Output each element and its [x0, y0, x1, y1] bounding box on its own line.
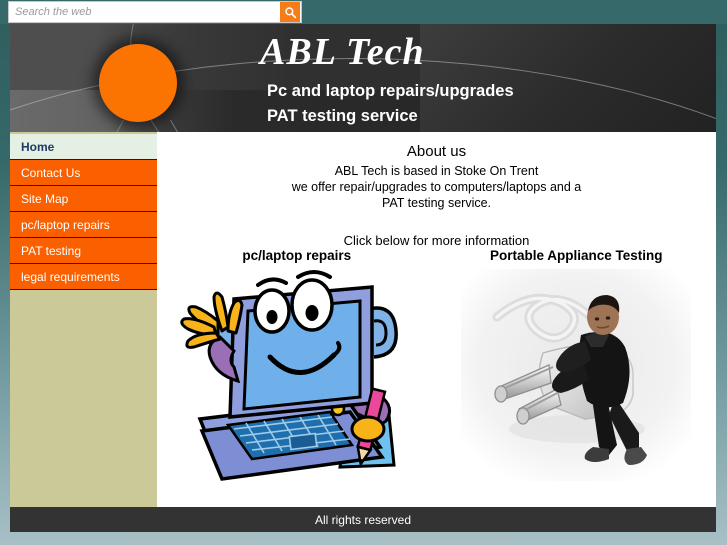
card-title-pc-laptop-repairs: pc/laptop repairs [157, 248, 437, 263]
main-content: About us ABL Tech is based in Stoke On T… [157, 132, 716, 507]
footer-text: All rights reserved [315, 513, 411, 527]
cartoon-laptop-character-image[interactable] [157, 269, 437, 484]
sidebar-item-contact-us[interactable]: Contact Us [10, 160, 157, 186]
sidebar-item-pat-testing[interactable]: PAT testing [10, 238, 157, 264]
man-pushing-plug-photo[interactable] [437, 269, 717, 484]
search-icon [284, 6, 297, 19]
search-button[interactable] [280, 2, 300, 22]
page-container: ABL Tech Pc and laptop repairs/upgrades … [10, 24, 716, 532]
page-footer: All rights reserved [10, 507, 716, 532]
cta-text: Click below for more information [157, 233, 716, 248]
card-title-portable-appliance-testing: Portable Appliance Testing [437, 248, 717, 263]
sidebar-nav: Home Contact Us Site Map pc/laptop repai… [10, 132, 157, 507]
browser-toolbar [0, 0, 727, 24]
search-bar[interactable] [8, 1, 302, 23]
sidebar-item-home[interactable]: Home [10, 134, 157, 160]
search-input[interactable] [9, 2, 280, 22]
sidebar-item-legal-requirements[interactable]: legal requirements [10, 264, 157, 290]
body-area: Home Contact Us Site Map pc/laptop repai… [10, 132, 716, 507]
site-banner: ABL Tech Pc and laptop repairs/upgrades … [10, 24, 716, 132]
about-line-1: ABL Tech is based in Stoke On Trent [157, 163, 716, 179]
about-heading: About us [157, 143, 716, 160]
banner-tagline-2: PAT testing service [267, 107, 418, 126]
site-title: ABL Tech [260, 30, 425, 74]
orange-circle-logo-icon [99, 44, 177, 122]
banner-tagline-1: Pc and laptop repairs/upgrades [267, 82, 514, 101]
cards-row: pc/laptop repairs [157, 248, 716, 498]
about-line-2: we offer repair/upgrades to computers/la… [157, 179, 716, 195]
card-pc-laptop-repairs[interactable]: pc/laptop repairs [157, 248, 437, 498]
about-line-3: PAT testing service. [157, 195, 716, 211]
sidebar-item-pc-laptop-repairs[interactable]: pc/laptop repairs [10, 212, 157, 238]
sidebar-item-site-map[interactable]: Site Map [10, 186, 157, 212]
card-portable-appliance-testing[interactable]: Portable Appliance Testing [437, 248, 717, 498]
